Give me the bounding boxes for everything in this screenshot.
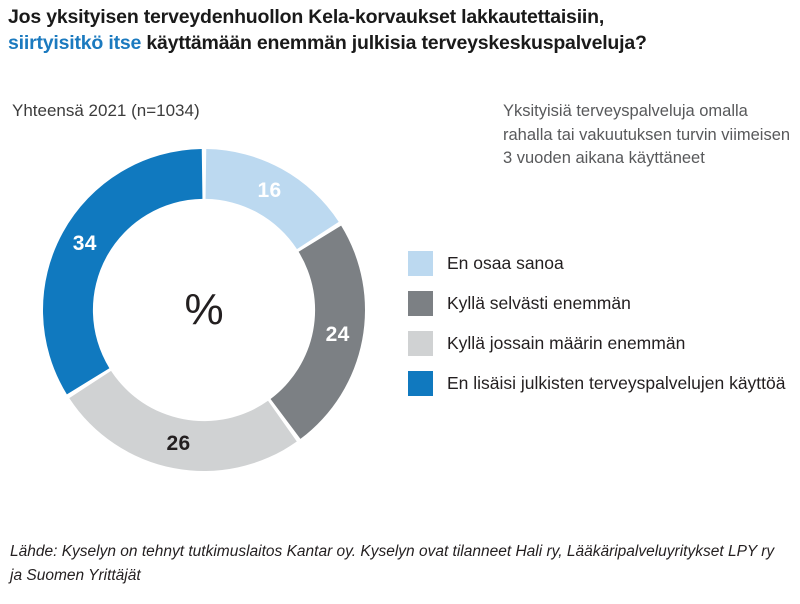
slice-value-label-3: 34	[73, 232, 97, 256]
legend-label-0: En osaa sanoa	[447, 250, 564, 276]
legend-label-3: En lisäisi julkisten terveyspalvelujen k…	[447, 370, 786, 396]
slice-value-label-2: 26	[167, 432, 191, 456]
donut-chart-svg	[42, 148, 366, 472]
legend-label-1: Kyllä selvästi enemmän	[447, 290, 631, 316]
donut-slice-group	[43, 149, 365, 471]
legend-swatch-icon-3	[408, 371, 433, 396]
legend-swatch-icon-2	[408, 331, 433, 356]
legend-swatch-icon-0	[408, 251, 433, 276]
donut-slice-2[interactable]	[69, 371, 297, 471]
title-line-2: siirtyisitkö itse käyttämään enemmän jul…	[8, 30, 792, 56]
donut-chart: % 16 24 26 34	[42, 148, 366, 472]
donut-slice-1[interactable]	[271, 226, 365, 439]
title-rest-text: käyttämään enemmän julkisia terveyskesku…	[141, 32, 647, 54]
total-sample-label: Yhteensä 2021 (n=1034)	[12, 100, 200, 122]
legend-item-2[interactable]: Kyllä jossain määrin enemmän	[408, 330, 794, 356]
chart-legend: En osaa sanoa Kyllä selvästi enemmän Kyl…	[408, 250, 794, 410]
page-title: Jos yksityisen terveydenhuollon Kela-kor…	[8, 4, 792, 56]
legend-item-1[interactable]: Kyllä selvästi enemmän	[408, 290, 794, 316]
title-line-1: Jos yksityisen terveydenhuollon Kela-kor…	[8, 4, 792, 30]
slice-value-label-1: 24	[326, 323, 350, 347]
slice-value-label-0: 16	[258, 179, 282, 203]
source-note: Lähde: Kyselyn on tehnyt tutkimuslaitos …	[10, 540, 790, 588]
legend-label-2: Kyllä jossain määrin enemmän	[447, 330, 685, 356]
legend-item-3[interactable]: En lisäisi julkisten terveyspalvelujen k…	[408, 370, 794, 396]
donut-slice-3[interactable]	[43, 149, 202, 394]
title-accent-text: siirtyisitkö itse	[8, 32, 141, 54]
segment-description-note: Yksityisiä terveyspalveluja omalla rahal…	[503, 100, 793, 171]
legend-swatch-icon-1	[408, 291, 433, 316]
legend-item-0[interactable]: En osaa sanoa	[408, 250, 794, 276]
